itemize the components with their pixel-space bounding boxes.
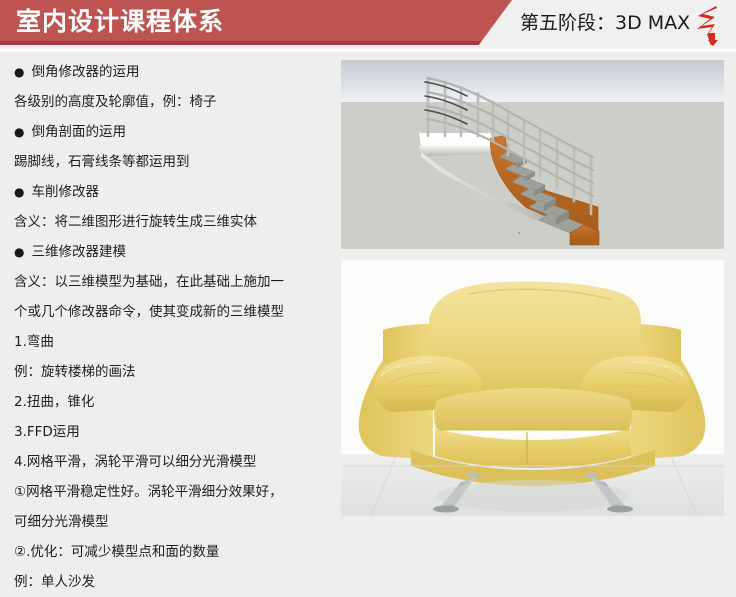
outline-bullet-line: 车削修改器: [0, 177, 336, 207]
outline-text-line: 可细分光滑模型: [0, 507, 336, 537]
page-title: 室内设计课程体系: [16, 7, 224, 37]
stage-label: 第五阶段：3D MAX: [520, 11, 690, 35]
header-divider: [0, 49, 736, 52]
outline-text-line: ①网格平滑稳定性好。涡轮平滑细分效果好，: [0, 477, 336, 507]
outline-text-line: 例：单人沙发: [0, 567, 336, 597]
lightning-arrow-icon: [694, 4, 720, 46]
outline-text-line: 个或几个修改器命令，使其变成新的三维模型: [0, 297, 336, 327]
armchair-image: [341, 260, 724, 516]
course-outline-text: 倒角修改器的运用各级别的高度及轮廓值，例：椅子倒角剖面的运用踢脚线，石膏线条等都…: [0, 57, 336, 520]
outline-bullet-line: 三维修改器建模: [0, 237, 336, 267]
outline-text-line: 1.弯曲: [0, 327, 336, 357]
outline-text-line: 含义：将二维图形进行旋转生成三维实体: [0, 207, 336, 237]
outline-text-line: 各级别的高度及轮廓值，例：椅子: [0, 87, 336, 117]
outline-text-line: ②.优化：可减少模型点和面的数量: [0, 537, 336, 567]
page-header: 室内设计课程体系 第五阶段：3D MAX: [0, 0, 736, 52]
outline-text-line: 3.FFD运用: [0, 417, 336, 447]
outline-text-line: 2.扭曲，锥化: [0, 387, 336, 417]
outline-text-line: 例：旋转楼梯的画法: [0, 357, 336, 387]
outline-text-line: 踢脚线，石膏线条等都运用到: [0, 147, 336, 177]
outline-bullet-line: 倒角修改器的运用: [0, 57, 336, 87]
staircase-image: [341, 60, 724, 249]
outline-bullet-line: 倒角剖面的运用: [0, 117, 336, 147]
outline-text-line: 4.网格平滑，涡轮平滑可以细分光滑模型: [0, 447, 336, 477]
outline-text-line: 含义：以三维模型为基础，在此基础上施加一: [0, 267, 336, 297]
